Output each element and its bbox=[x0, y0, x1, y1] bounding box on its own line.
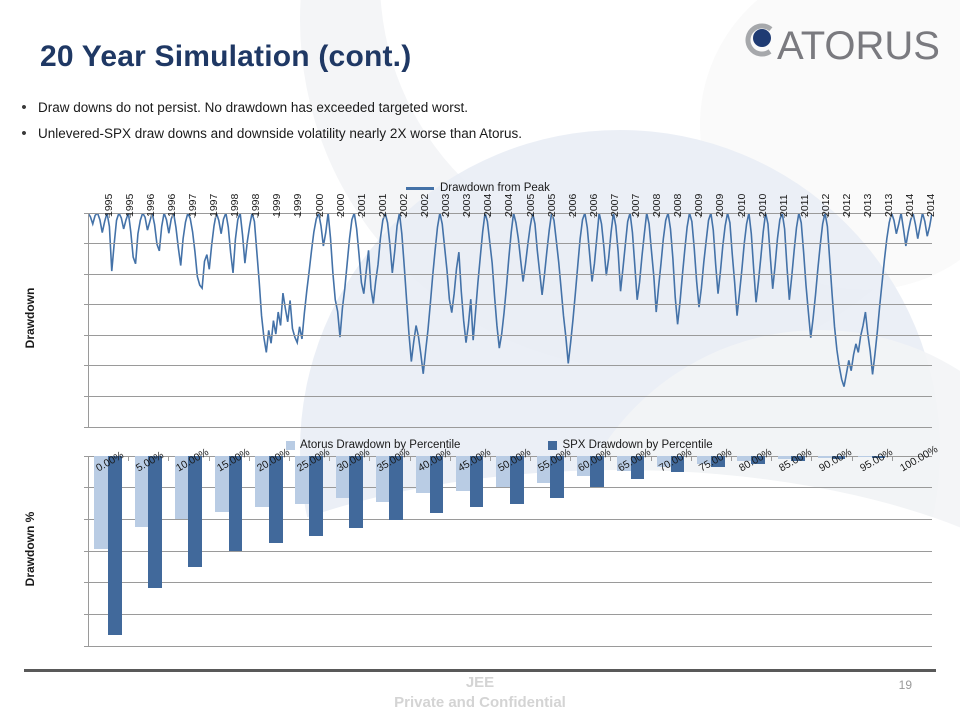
x-axis-tick-label: 1999 bbox=[271, 194, 283, 217]
bar-group bbox=[892, 456, 932, 646]
bar-group bbox=[731, 456, 771, 646]
x-axis-tick-label: 1995 bbox=[103, 194, 115, 217]
x-axis-tick bbox=[88, 456, 89, 461]
drawdown-line-series bbox=[88, 213, 932, 427]
x-axis-tick-label: 2014 bbox=[904, 194, 916, 217]
bullet-list: • Draw downs do not persist. No drawdown… bbox=[10, 98, 770, 150]
legend-swatch-drawdown-from-peak bbox=[406, 187, 434, 190]
x-axis-tick-label: 1995 bbox=[124, 194, 136, 217]
gridline bbox=[88, 304, 932, 305]
bar-group bbox=[811, 456, 851, 646]
x-axis-tick-label: 2008 bbox=[651, 194, 663, 217]
footer-divider bbox=[24, 669, 936, 672]
bar-group bbox=[88, 456, 128, 646]
y-axis-title-drawdown: Drawdown bbox=[23, 278, 37, 358]
page-number: 19 bbox=[899, 678, 912, 692]
x-axis-tick-label: 2012 bbox=[820, 194, 832, 217]
bar-spx bbox=[269, 456, 283, 543]
bar-group bbox=[128, 456, 168, 646]
x-axis-tick-label: 2001 bbox=[377, 194, 389, 217]
bar-group bbox=[771, 456, 811, 646]
x-axis-tick-label: 2004 bbox=[503, 194, 515, 217]
atorus-logo-text: ATORUS bbox=[777, 26, 940, 66]
gridline bbox=[88, 243, 932, 244]
x-axis-tick bbox=[88, 213, 89, 218]
x-axis-tick-label: 2013 bbox=[883, 194, 895, 217]
slide-canvas: 20 Year Simulation (cont.) ATORUS • Draw… bbox=[0, 0, 960, 720]
bullet-text: Draw downs do not persist. No drawdown h… bbox=[38, 98, 468, 117]
x-axis-tick-label: 2010 bbox=[757, 194, 769, 217]
gridline bbox=[88, 365, 932, 366]
x-axis-tick-label: 1996 bbox=[166, 194, 178, 217]
line-chart-plot-area bbox=[88, 213, 932, 427]
x-axis-tick-label: 2000 bbox=[314, 194, 326, 217]
drawdown-percentile-bar-chart: Atorus Drawdown by Percentile SPX Drawdo… bbox=[0, 440, 960, 660]
x-axis-tick-label: 1996 bbox=[145, 194, 157, 217]
list-item: • Unlevered-SPX draw downs and downside … bbox=[10, 124, 770, 143]
x-axis-tick bbox=[128, 456, 129, 461]
legend-swatch-spx bbox=[548, 441, 557, 450]
line-chart-legend: Drawdown from Peak bbox=[406, 182, 550, 194]
gridline bbox=[88, 335, 932, 336]
x-axis-tick-label: 2000 bbox=[335, 194, 347, 217]
bar-group bbox=[410, 456, 450, 646]
gridline bbox=[88, 427, 932, 428]
bar-group bbox=[209, 456, 249, 646]
list-item: • Draw downs do not persist. No drawdown… bbox=[10, 98, 770, 117]
y-axis-line bbox=[88, 213, 89, 427]
gridline bbox=[88, 274, 932, 275]
bar-group bbox=[691, 456, 731, 646]
x-axis-tick-label: 1999 bbox=[292, 194, 304, 217]
x-axis-tick-label: 2010 bbox=[736, 194, 748, 217]
x-axis-tick-label: 1998 bbox=[229, 194, 241, 217]
legend-item-atorus: Atorus Drawdown by Percentile bbox=[286, 439, 460, 451]
bar-spx bbox=[229, 456, 243, 551]
x-axis-tick-label: 2005 bbox=[546, 194, 558, 217]
bar-spx bbox=[188, 456, 202, 567]
x-axis-tick-label: 2002 bbox=[398, 194, 410, 217]
x-axis-tick-label: 2009 bbox=[714, 194, 726, 217]
x-axis-tick-label: 2003 bbox=[440, 194, 452, 217]
x-axis-tick-label: 2006 bbox=[588, 194, 600, 217]
x-axis-tick-label: 2001 bbox=[356, 194, 368, 217]
x-axis-tick-label: 2009 bbox=[693, 194, 705, 217]
bullet-text: Unlevered-SPX draw downs and downside vo… bbox=[38, 124, 522, 143]
x-axis-tick-label: 2005 bbox=[525, 194, 537, 217]
bar-group bbox=[651, 456, 691, 646]
page-title: 20 Year Simulation (cont.) bbox=[40, 40, 411, 74]
bullet-marker-icon: • bbox=[10, 124, 38, 143]
footer-line-2: Private and Confidential bbox=[0, 693, 960, 713]
x-axis-tick-label: 2004 bbox=[482, 194, 494, 217]
bar-group bbox=[450, 456, 490, 646]
bar-group bbox=[289, 456, 329, 646]
bar-group bbox=[329, 456, 369, 646]
footer-text: JEE Private and Confidential bbox=[0, 673, 960, 713]
bar-group bbox=[530, 456, 570, 646]
footer-line-1: JEE bbox=[0, 673, 960, 693]
x-axis-tick-label: 2011 bbox=[799, 194, 811, 217]
bar-group bbox=[490, 456, 530, 646]
bar-spx bbox=[148, 456, 162, 588]
bar-chart-plot-area bbox=[88, 456, 932, 646]
bar-group bbox=[249, 456, 289, 646]
x-axis-tick-label: 2007 bbox=[630, 194, 642, 217]
x-axis-tick-label: 2011 bbox=[778, 194, 790, 217]
bullet-marker-icon: • bbox=[10, 98, 38, 117]
y-axis-title-drawdown-pct: Drawdown % bbox=[23, 501, 37, 597]
bar-group bbox=[570, 456, 610, 646]
x-axis-tick-label: 2008 bbox=[672, 194, 684, 217]
x-axis-tick bbox=[168, 456, 169, 461]
bar-spx bbox=[108, 456, 122, 635]
x-axis-tick-label: 2003 bbox=[461, 194, 473, 217]
x-axis-tick-label: 2007 bbox=[609, 194, 621, 217]
x-axis-tick-label: 1998 bbox=[250, 194, 262, 217]
bar-group bbox=[852, 456, 892, 646]
bar-group bbox=[168, 456, 208, 646]
x-axis-tick-label: 2014 bbox=[925, 194, 937, 217]
drawdown-line-chart: Drawdown from Peak Drawdown 0.00%-5.00%-… bbox=[0, 182, 960, 442]
x-axis-tick-label: 2012 bbox=[841, 194, 853, 217]
x-axis-tick-label: 2006 bbox=[567, 194, 579, 217]
atorus-logo: ATORUS bbox=[745, 18, 940, 74]
legend-label-drawdown-from-peak: Drawdown from Peak bbox=[440, 182, 550, 194]
x-axis-tick-label: 1997 bbox=[208, 194, 220, 217]
gridline bbox=[88, 396, 932, 397]
atorus-logo-mark-icon bbox=[745, 23, 779, 57]
bar-group bbox=[610, 456, 650, 646]
x-axis-tick-label: 2002 bbox=[419, 194, 431, 217]
x-axis-tick-label: 1997 bbox=[187, 194, 199, 217]
bar-group bbox=[369, 456, 409, 646]
x-axis-tick-label: 2013 bbox=[862, 194, 874, 217]
